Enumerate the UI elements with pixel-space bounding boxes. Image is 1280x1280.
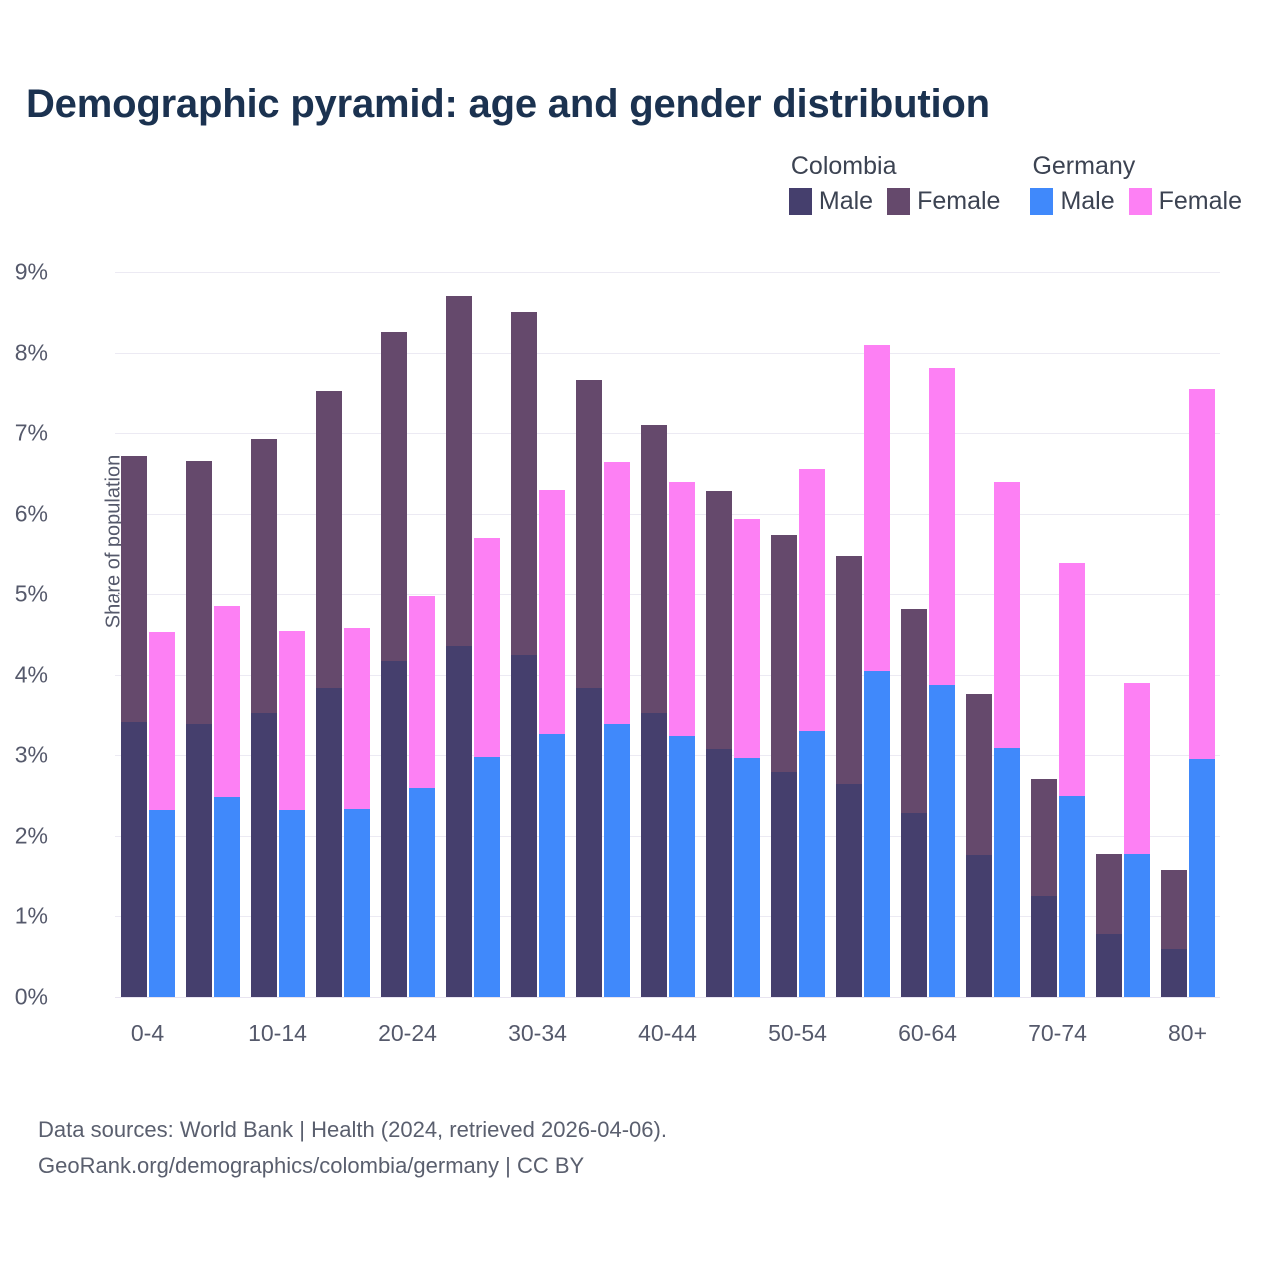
x-axis-tick-label: 50-54 — [765, 1020, 830, 1047]
bar-segment-male[interactable] — [576, 688, 602, 997]
bar-segment-female[interactable] — [1031, 779, 1057, 897]
bar-germany[interactable] — [669, 482, 695, 997]
bar-germany[interactable] — [214, 606, 240, 997]
x-axis-tick-label: 20-24 — [375, 1020, 440, 1047]
bar-group — [180, 272, 245, 997]
bar-segment-female[interactable] — [1124, 683, 1150, 855]
bar-segment-male[interactable] — [409, 788, 435, 997]
x-axis-tick-label — [180, 1020, 245, 1047]
bar-segment-male[interactable] — [186, 724, 212, 997]
bar-germany[interactable] — [344, 628, 370, 997]
bar-colombia[interactable] — [381, 332, 407, 997]
x-axis-tick-label — [310, 1020, 375, 1047]
bar-segment-female[interactable] — [669, 482, 695, 736]
bar-colombia[interactable] — [121, 456, 147, 997]
bar-segment-male[interactable] — [251, 713, 277, 997]
bar-segment-female[interactable] — [836, 556, 862, 785]
bar-group — [1025, 272, 1090, 997]
bar-group — [635, 272, 700, 997]
bar-segment-female[interactable] — [929, 368, 955, 685]
bar-segment-female[interactable] — [1161, 870, 1187, 949]
bar-group — [505, 272, 570, 997]
bar-colombia[interactable] — [576, 380, 602, 997]
bar-segment-male[interactable] — [1189, 759, 1215, 997]
bar-segment-female[interactable] — [279, 631, 305, 810]
bar-segment-male[interactable] — [344, 809, 370, 998]
y-axis-tick-label: 5% — [0, 581, 48, 608]
bar-segment-female[interactable] — [604, 462, 630, 724]
bar-group — [1155, 272, 1220, 997]
bar-colombia[interactable] — [706, 491, 732, 997]
bar-segment-male[interactable] — [1161, 949, 1187, 997]
bar-segment-male[interactable] — [1124, 854, 1150, 997]
bar-colombia[interactable] — [1161, 870, 1187, 997]
bar-segment-female[interactable] — [539, 490, 565, 733]
bar-segment-male[interactable] — [539, 734, 565, 997]
bar-segment-male[interactable] — [734, 758, 760, 997]
bar-segment-female[interactable] — [149, 632, 175, 810]
bar-colombia[interactable] — [966, 694, 992, 997]
bar-germany[interactable] — [149, 632, 175, 997]
x-axis-tick-label — [570, 1020, 635, 1047]
bar-segment-male[interactable] — [149, 810, 175, 997]
y-axis-tick-label: 2% — [0, 822, 48, 849]
bar-group — [765, 272, 830, 997]
bar-segment-female[interactable] — [799, 469, 825, 732]
chart-page: Demographic pyramid: age and gender dist… — [0, 0, 1280, 1280]
bar-germany[interactable] — [279, 631, 305, 997]
bar-segment-male[interactable] — [474, 757, 500, 997]
bar-group — [830, 272, 895, 997]
bar-segment-female[interactable] — [994, 482, 1020, 748]
bar-group — [310, 272, 375, 997]
bar-segment-male[interactable] — [214, 797, 240, 997]
bar-germany[interactable] — [604, 462, 630, 997]
bar-segment-male[interactable] — [836, 784, 862, 997]
x-axis-tick-label: 10-14 — [245, 1020, 310, 1047]
x-axis-tick-label: 30-34 — [505, 1020, 570, 1047]
x-axis-tick-label: 70-74 — [1025, 1020, 1090, 1047]
plot-area: 0%1%2%3%4%5%6%7%8%9% — [115, 272, 1220, 997]
bar-germany[interactable] — [799, 469, 825, 997]
bar-colombia[interactable] — [446, 296, 472, 997]
bar-segment-female[interactable] — [381, 332, 407, 661]
bar-segment-female[interactable] — [344, 628, 370, 808]
footer-line-sources: Data sources: World Bank | Health (2024,… — [38, 1112, 667, 1148]
bar-segment-male[interactable] — [381, 661, 407, 997]
bar-germany[interactable] — [1124, 683, 1150, 997]
bar-group — [960, 272, 1025, 997]
bar-segment-female[interactable] — [771, 535, 797, 772]
bar-segment-male[interactable] — [771, 772, 797, 997]
bar-segment-male[interactable] — [994, 748, 1020, 997]
bar-colombia[interactable] — [641, 425, 667, 997]
bar-group — [700, 272, 765, 997]
bar-segment-male[interactable] — [864, 671, 890, 997]
bar-segment-male[interactable] — [929, 685, 955, 997]
x-axis-tick-label — [700, 1020, 765, 1047]
bar-segment-female[interactable] — [1096, 854, 1122, 934]
bar-segment-female[interactable] — [186, 461, 212, 724]
y-axis-tick-label: 3% — [0, 742, 48, 769]
bar-segment-female[interactable] — [316, 391, 342, 688]
bar-group — [895, 272, 960, 997]
x-axis-tick-label — [1090, 1020, 1155, 1047]
bar-segment-male[interactable] — [966, 855, 992, 997]
bar-segment-male[interactable] — [604, 724, 630, 997]
bar-segment-male[interactable] — [901, 813, 927, 997]
y-axis-tick-label: 0% — [0, 984, 48, 1011]
bar-segment-male[interactable] — [1096, 934, 1122, 997]
bar-segment-female[interactable] — [1189, 389, 1215, 759]
footer-line-attribution: GeoRank.org/demographics/colombia/german… — [38, 1148, 667, 1184]
bar-germany[interactable] — [409, 596, 435, 997]
bar-colombia[interactable] — [316, 391, 342, 997]
bar-segment-male[interactable] — [279, 810, 305, 997]
bar-segment-female[interactable] — [511, 312, 537, 654]
y-axis-tick-label: 8% — [0, 339, 48, 366]
gridline — [115, 997, 1220, 998]
y-axis-tick-label: 6% — [0, 500, 48, 527]
bar-colombia[interactable] — [1031, 779, 1057, 997]
bar-group — [1090, 272, 1155, 997]
bar-segment-male[interactable] — [511, 655, 537, 997]
bar-germany[interactable] — [734, 519, 760, 997]
bar-group — [570, 272, 635, 997]
bar-segment-male[interactable] — [316, 688, 342, 997]
bar-segment-male[interactable] — [706, 749, 732, 997]
bar-segment-female[interactable] — [1059, 563, 1085, 797]
bar-germany[interactable] — [1189, 389, 1215, 997]
bar-colombia[interactable] — [186, 461, 212, 997]
bar-group — [375, 272, 440, 997]
bar-group — [115, 272, 180, 997]
bar-colombia[interactable] — [511, 312, 537, 997]
bar-segment-female[interactable] — [966, 694, 992, 855]
bar-colombia[interactable] — [836, 556, 862, 997]
bar-germany[interactable] — [864, 345, 890, 998]
y-axis-tick-label: 1% — [0, 903, 48, 930]
bar-segment-male[interactable] — [641, 713, 667, 997]
x-axis-ticks: 0-410-1420-2430-3440-4450-5460-6470-7480… — [115, 1020, 1220, 1047]
bar-segment-female[interactable] — [409, 596, 435, 789]
bar-germany[interactable] — [539, 490, 565, 997]
bar-germany[interactable] — [1059, 563, 1085, 997]
bar-colombia[interactable] — [1096, 854, 1122, 997]
bar-segment-female[interactable] — [706, 491, 732, 749]
x-axis-tick-label: 80+ — [1155, 1020, 1220, 1047]
x-axis-tick-label — [830, 1020, 895, 1047]
x-axis-tick-label: 40-44 — [635, 1020, 700, 1047]
bar-segment-female[interactable] — [864, 345, 890, 671]
bar-segment-male[interactable] — [1031, 896, 1057, 997]
bar-segment-female[interactable] — [121, 456, 147, 722]
x-axis-tick-label: 0-4 — [115, 1020, 180, 1047]
x-axis-tick-label — [440, 1020, 505, 1047]
bar-segment-male[interactable] — [799, 731, 825, 997]
x-axis-tick-label: 60-64 — [895, 1020, 960, 1047]
bar-segment-male[interactable] — [1059, 796, 1085, 997]
footer: Data sources: World Bank | Health (2024,… — [38, 1112, 667, 1185]
bar-segment-female[interactable] — [251, 439, 277, 713]
bar-segment-male[interactable] — [446, 646, 472, 997]
bar-group — [245, 272, 310, 997]
bar-colombia[interactable] — [771, 535, 797, 997]
bar-segment-female[interactable] — [446, 296, 472, 646]
y-axis-tick-label: 4% — [0, 661, 48, 688]
bar-germany[interactable] — [994, 482, 1020, 997]
bar-segment-female[interactable] — [901, 609, 927, 813]
bar-segment-male[interactable] — [669, 736, 695, 997]
bar-segment-female[interactable] — [214, 606, 240, 797]
bar-segment-female[interactable] — [641, 425, 667, 713]
chart-canvas: Share of population 0%1%2%3%4%5%6%7%8%9%… — [0, 0, 1280, 1280]
y-axis-tick-label: 9% — [0, 259, 48, 286]
bar-germany[interactable] — [474, 538, 500, 997]
bar-segment-female[interactable] — [734, 519, 760, 757]
bar-group — [440, 272, 505, 997]
bar-groups — [115, 272, 1220, 997]
bar-segment-female[interactable] — [474, 538, 500, 757]
bar-germany[interactable] — [929, 368, 955, 997]
x-axis-tick-label — [960, 1020, 1025, 1047]
y-axis-tick-label: 7% — [0, 420, 48, 447]
bar-segment-male[interactable] — [121, 722, 147, 998]
bar-colombia[interactable] — [901, 609, 927, 997]
bar-segment-female[interactable] — [576, 380, 602, 689]
bar-colombia[interactable] — [251, 439, 277, 997]
